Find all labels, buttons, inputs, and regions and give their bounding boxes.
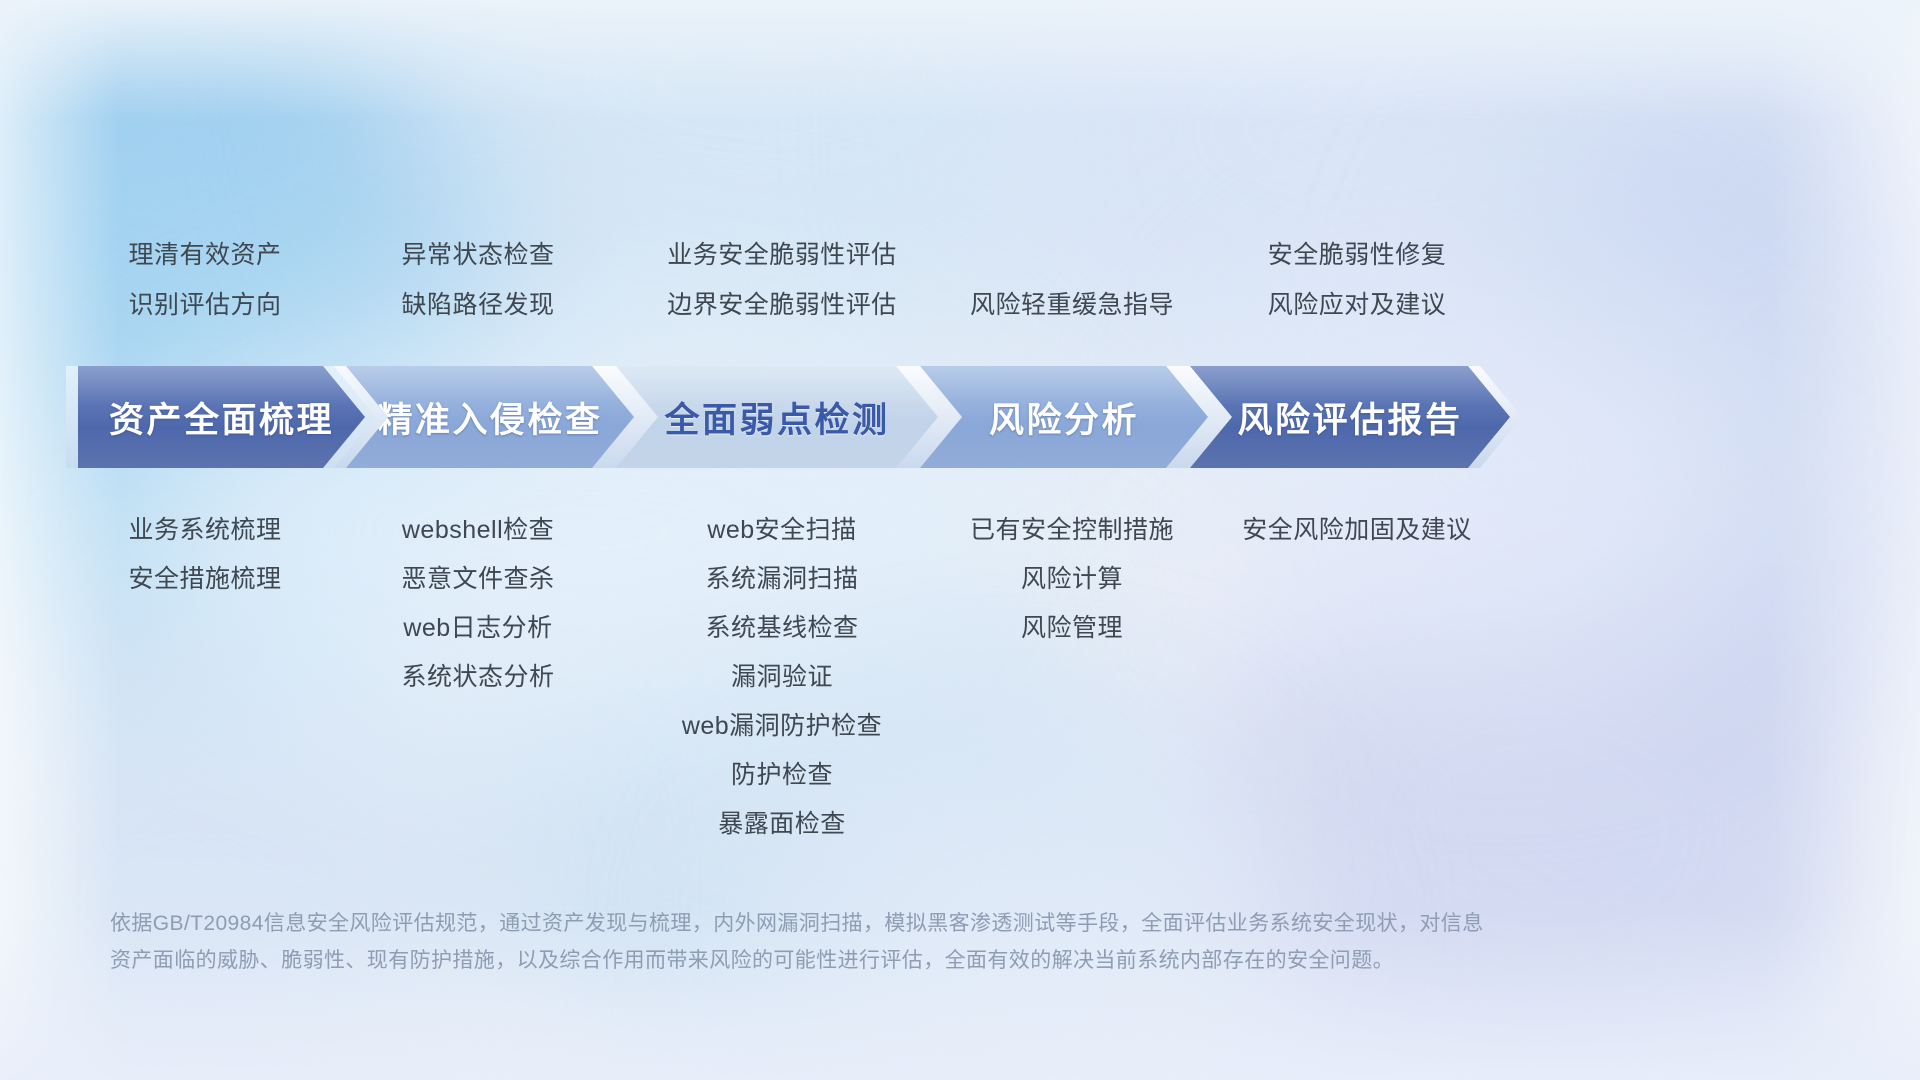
process-stage-5[interactable]: 风险评估报告 <box>1190 366 1510 468</box>
stage-inputs-5: 安全脆弱性修复风险应对及建议 <box>1147 230 1567 330</box>
footer-description: 依据GB/T20984信息安全风险评估规范，通过资产发现与梳理，内外网漏洞扫描，… <box>110 905 1670 979</box>
process-stage-title-4: 风险分析 <box>989 392 1139 443</box>
process-stage-3[interactable]: 全面弱点检测 <box>616 366 938 468</box>
list-item: 安全脆弱性修复 <box>1147 230 1567 280</box>
process-stage-title-5: 风险评估报告 <box>1237 392 1462 443</box>
list-item: 安全风险加固及建议 <box>1147 506 1567 555</box>
process-stage-title-3: 全面弱点检测 <box>664 392 889 443</box>
footer-line-2: 资产面临的威胁、脆弱性、现有防护措施，以及综合作用而带来风险的可能性进行评估，全… <box>110 942 1670 979</box>
footer-line-1: 依据GB/T20984信息安全风险评估规范，通过资产发现与梳理，内外网漏洞扫描，… <box>110 905 1670 942</box>
process-chevron-band: 资产全面梳理精准入侵检查全面弱点检测风险分析风险评估报告 <box>0 366 1920 468</box>
process-stage-title-1: 资产全面梳理 <box>109 392 334 443</box>
slide-canvas: 理清有效资产识别评估方向业务系统梳理安全措施梳理异常状态检查缺陷路径发现webs… <box>0 0 1920 1080</box>
process-stage-2[interactable]: 精准入侵检查 <box>346 366 634 468</box>
list-item: 风险应对及建议 <box>1147 280 1567 330</box>
process-stage-4[interactable]: 风险分析 <box>920 366 1208 468</box>
process-stage-1[interactable]: 资产全面梳理 <box>78 366 365 468</box>
stage-activities-5: 安全风险加固及建议 <box>1147 506 1567 555</box>
process-stage-title-2: 精准入侵检查 <box>377 392 602 443</box>
